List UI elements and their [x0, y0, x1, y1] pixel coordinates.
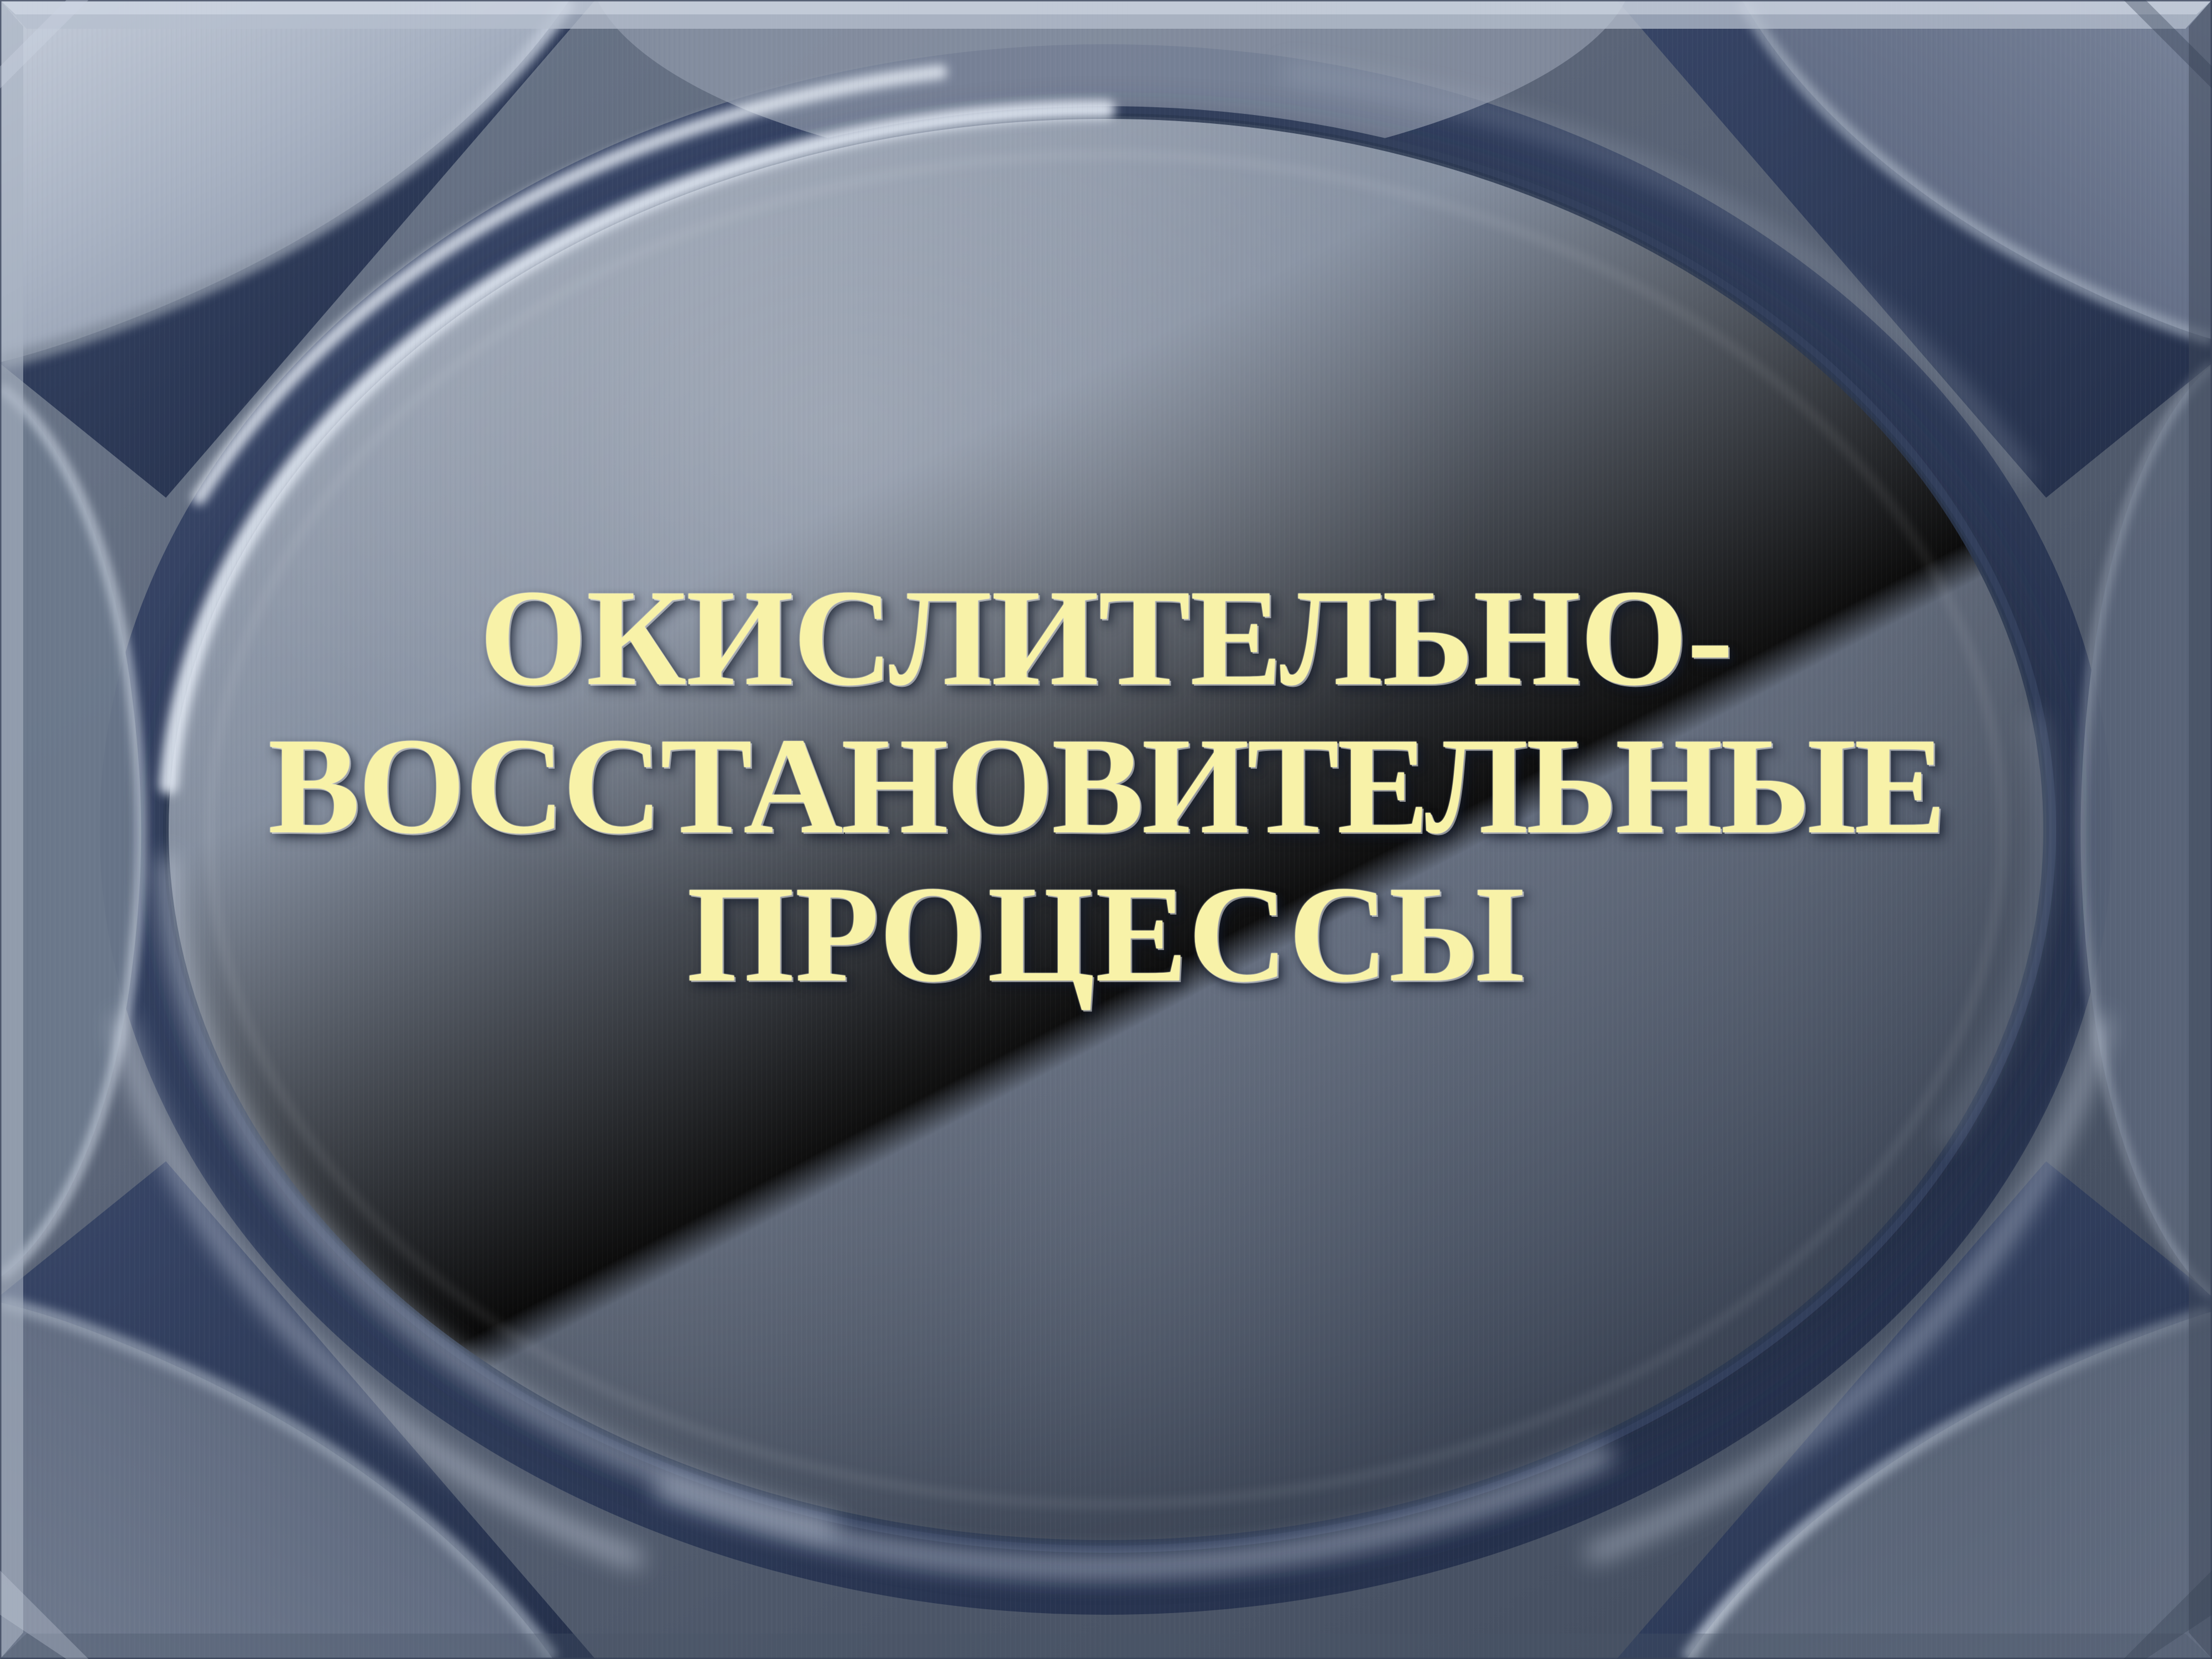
- slide-background-artwork: [0, 0, 2212, 1659]
- pinstripe-texture: [0, 0, 2212, 1659]
- slide-canvas: ОКИСЛИТЕЛЬНО- ВОССТАНОВИТЕЛЬНЫЕ ПРОЦЕССЫ: [0, 0, 2212, 1659]
